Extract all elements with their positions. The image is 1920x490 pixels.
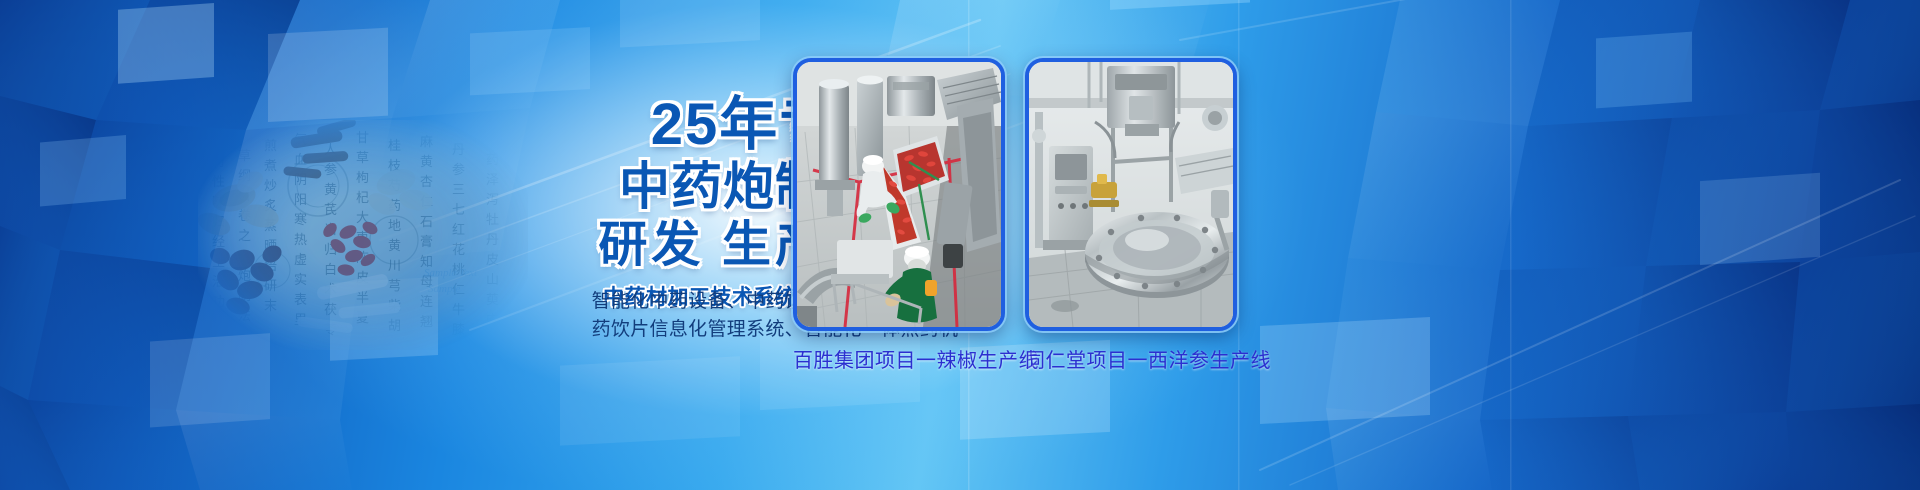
herbal-collage-image: 药材性味归经主治功效 本草纲目卷之一炮制法 煎煮炒炙蒸晒焙研末 气血阴阳寒热虚实… — [198, 120, 528, 350]
project-card-2[interactable]: 同仁堂项目一西洋参生产线 — [1025, 58, 1237, 373]
project-caption-2: 同仁堂项目一西洋参生产线 — [1025, 344, 1237, 373]
project-card-1[interactable]: 百胜集团项目一辣椒生产线 — [793, 58, 1005, 373]
project-photo-frame-2 — [1025, 58, 1237, 331]
project-photo-frame-1 — [793, 58, 1005, 331]
project-caption-1: 百胜集团项目一辣椒生产线 — [793, 344, 1005, 373]
promo-banner: 药材性味归经主治功效 本草纲目卷之一炮制法 煎煮炒炙蒸晒焙研末 气血阴阳寒热虚实… — [0, 0, 1920, 490]
